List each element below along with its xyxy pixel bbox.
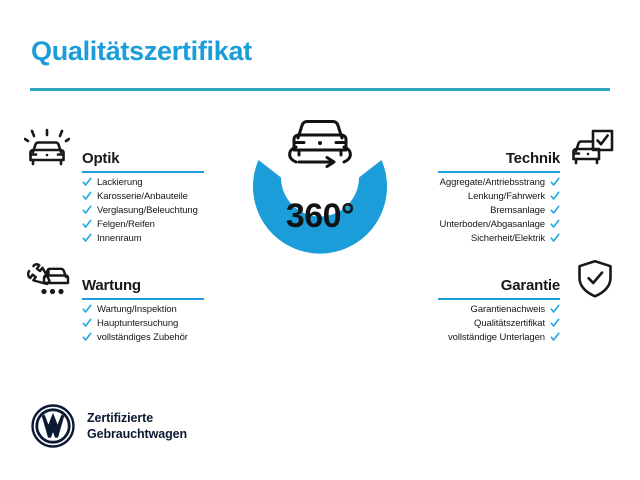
list-item-label: Qualitätszertifikat <box>474 318 545 329</box>
check-mark-icon <box>82 177 92 187</box>
list-item-label: vollständiges Zubehör <box>97 332 188 343</box>
list-item-label: Hauptuntersuchung <box>97 318 178 329</box>
vw-wordmark-line1: Zertifizierte <box>87 410 187 426</box>
check-mark-icon <box>550 205 560 215</box>
check-mark-icon <box>550 219 560 229</box>
check-mark-icon <box>82 219 92 229</box>
list-item-label: Bremsanlage <box>490 205 545 216</box>
list-item-label: Verglasung/Beleuchtung <box>97 205 198 216</box>
car-rotate-360-icon <box>278 116 362 176</box>
vw-logo-wordmark: Zertifizierte Gebrauchtwagen <box>87 410 187 442</box>
section-garantie-list: Garantienachweis Qualitätszertifikat vol… <box>378 302 560 344</box>
car-checkbox-icon <box>568 128 614 168</box>
check-mark-icon <box>82 318 92 328</box>
car-shine-icon <box>24 128 70 168</box>
shield-check-icon <box>572 259 618 299</box>
check-mark-icon <box>82 304 92 314</box>
vw-logo <box>31 404 75 448</box>
list-item-label: Garantienachweis <box>471 304 545 315</box>
list-item-label: vollständige Unterlagen <box>448 332 545 343</box>
list-item-label: Felgen/Reifen <box>97 219 155 230</box>
title-divider <box>30 88 610 91</box>
vw-wordmark-line2: Gebrauchtwagen <box>87 426 187 442</box>
list-item-label: Lackierung <box>97 177 142 188</box>
list-item-label: Unterboden/Abgasanlage <box>439 219 545 230</box>
badge-360-gebrauchtwagen-check: Gebrauchtwagen-Check 360° <box>228 122 412 306</box>
list-item-label: Sicherheit/Elektrik <box>471 233 545 244</box>
wrench-car-service-icon <box>24 258 70 298</box>
section-wartung-title: Wartung <box>82 277 141 294</box>
list-item-label: Wartung/Inspektion <box>97 304 177 315</box>
section-technik-divider <box>438 171 560 173</box>
list-item: vollständige Unterlagen <box>378 330 560 344</box>
vw-footer-logo-block: Zertifizierte Gebrauchtwagen <box>31 404 187 448</box>
list-item-label: Innenraum <box>97 233 142 244</box>
section-technik-title: Technik <box>506 150 560 167</box>
section-optik-title: Optik <box>82 150 119 167</box>
page-title: Qualitätszertifikat <box>31 36 252 67</box>
list-item: Hauptuntersuchung <box>82 316 262 330</box>
check-mark-icon <box>550 177 560 187</box>
check-mark-icon <box>82 205 92 215</box>
check-mark-icon <box>550 304 560 314</box>
check-mark-icon <box>82 191 92 201</box>
section-wartung-list: Wartung/Inspektion Hauptuntersuchung vol… <box>82 302 262 344</box>
list-item-label: Aggregate/Antriebsstrang <box>440 177 545 188</box>
list-item: vollständiges Zubehör <box>82 330 262 344</box>
certificate-page: Qualitätszertifikat Optik Lackierung <box>0 0 640 480</box>
check-mark-icon <box>550 191 560 201</box>
list-item: Qualitätszertifikat <box>378 316 560 330</box>
check-mark-icon <box>550 318 560 328</box>
section-wartung-divider <box>82 298 204 300</box>
check-mark-icon <box>82 233 92 243</box>
check-mark-icon <box>550 332 560 342</box>
list-item-label: Lenkung/Fahrwerk <box>468 191 545 202</box>
section-garantie-title: Garantie <box>501 277 560 294</box>
check-mark-icon <box>82 332 92 342</box>
section-optik-divider <box>82 171 204 173</box>
list-item-label: Karosserie/Anbauteile <box>97 191 188 202</box>
check-mark-icon <box>550 233 560 243</box>
section-garantie-divider <box>438 298 560 300</box>
